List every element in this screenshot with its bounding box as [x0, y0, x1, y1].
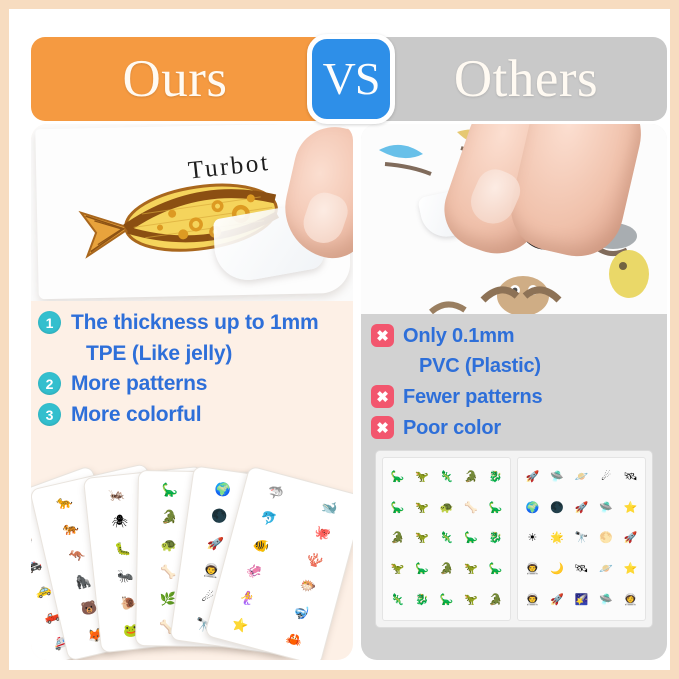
feature-row: 3 More colorful: [38, 399, 353, 430]
sticker-icon: 🛰: [570, 555, 593, 584]
comparison-card: Ours Others VS Turbot: [9, 9, 670, 670]
sticker-icon: 🛸: [595, 494, 618, 523]
ours-sticker-backing-sheet: Turbot: [35, 124, 350, 299]
feature-row: 2 More patterns: [38, 368, 353, 399]
sticker-icon: 🪐: [595, 555, 618, 584]
vs-badge-label: VS: [323, 56, 380, 102]
sticker-icon: 🛰: [619, 463, 642, 492]
feature-label: Fewer patterns: [403, 387, 542, 407]
sticker-icon: ☄: [595, 463, 618, 492]
sticker-icon: 🐊: [386, 525, 409, 554]
feature-row: ✖ Fewer patterns: [371, 381, 667, 412]
sticker-icon: ⭐: [619, 494, 642, 523]
vs-badge: VS: [307, 34, 395, 124]
sticker-icon: 🦴: [460, 494, 483, 523]
sticker-icon: 🦖: [460, 586, 483, 615]
sticker-icon: 🛸: [546, 463, 569, 492]
cross-icon-2: ✖: [371, 385, 394, 408]
ours-header-label: Ours: [122, 53, 227, 106]
sticker-icon: 🌙: [546, 555, 569, 584]
feature-row: ✖ Poor color: [371, 412, 667, 443]
sticker-icon: 🦖: [411, 463, 434, 492]
feature-row: TPE (Like jelly): [38, 338, 353, 368]
feature-row: 1 The thickness up to 1mm: [38, 307, 353, 338]
sticker-icon: 👩‍🚀: [619, 586, 642, 615]
sticker-icon: ☀: [521, 525, 544, 554]
dinosaur-sheet: 🦕🦖🦎🐊🐉🦕🦖🐢🦴🦕🐊🦖🦎🦕🐉🦖🦕🐊🦖🦕🦎🐉🦕🦖🐊: [382, 457, 511, 621]
sticker-icon: 🦕: [386, 494, 409, 523]
sticker-icon: 🦕: [435, 586, 458, 615]
sticker-icon: 🐉: [411, 586, 434, 615]
sticker-icon: 🚀: [521, 463, 544, 492]
number-badge-1: 1: [38, 311, 61, 334]
sticker-icon: 👨‍🚀: [521, 586, 544, 615]
number-badge-3: 3: [38, 403, 61, 426]
sticker-icon: 🐊: [435, 555, 458, 584]
sticker-icon: 👨‍🚀: [521, 555, 544, 584]
sticker-icon: 🌍: [521, 494, 544, 523]
feature-label: More patterns: [71, 373, 207, 394]
sticker-icon: 🌠: [570, 586, 593, 615]
ours-panel: Turbot: [31, 124, 353, 660]
sticker-icon: 🦕: [484, 555, 507, 584]
cross-icon-3: ✖: [371, 416, 394, 439]
others-header-label: Others: [454, 53, 598, 106]
sticker-icon: 🌑: [546, 494, 569, 523]
sticker-icon: 🐊: [460, 463, 483, 492]
number-badge-2: 2: [38, 372, 61, 395]
sticker-icon: 🐉: [484, 525, 507, 554]
sticker-icon: 🚀: [546, 586, 569, 615]
sticker-icon: 🐉: [484, 463, 507, 492]
sticker-icon: 🦖: [411, 525, 434, 554]
sticker-icon: 🐢: [435, 494, 458, 523]
ours-feature-list: 1 The thickness up to 1mm TPE (Like jell…: [31, 307, 353, 430]
sticker-icon: 🦎: [435, 525, 458, 554]
feature-row: ✖ Only 0.1mm: [371, 320, 667, 351]
sticker-icon: 🪐: [570, 463, 593, 492]
sticker-icon: 🦎: [386, 586, 409, 615]
sticker-icon: 🚀: [570, 494, 593, 523]
sticker-icon: 🔭: [570, 525, 593, 554]
sticker-icon: 🦕: [460, 525, 483, 554]
feature-label: Only 0.1mm: [403, 326, 514, 346]
comparison-header: Ours Others VS: [31, 37, 667, 121]
feature-label: The thickness up to 1mm: [71, 312, 318, 333]
space-sheet: 🚀🛸🪐☄🛰🌍🌑🚀🛸⭐☀🌟🔭🌕🚀👨‍🚀🌙🛰🪐⭐👨‍🚀🚀🌠🛸👩‍🚀: [517, 457, 646, 621]
feature-label: Poor color: [403, 418, 501, 438]
feature-sublabel: PVC (Plastic): [419, 356, 541, 376]
sticker-icon: 🦎: [435, 463, 458, 492]
others-sticker-sheets-gallery: 🦕🦖🦎🐊🐉🦕🦖🐢🦴🦕🐊🦖🦎🦕🐉🦖🦕🐊🦖🦕🦎🐉🦕🦖🐊 🚀🛸🪐☄🛰🌍🌑🚀🛸⭐☀🌟🔭🌕…: [375, 450, 653, 628]
feature-label: More colorful: [71, 404, 201, 425]
others-panel: ✖ Only 0.1mm PVC (Plastic) ✖ Fewer patte…: [361, 124, 667, 660]
feature-row: PVC (Plastic): [371, 351, 667, 381]
sticker-icon: 🦕: [484, 494, 507, 523]
sticker-icon: 🦖: [411, 494, 434, 523]
sticker-icon: 🦕: [386, 463, 409, 492]
others-product-photo: [361, 124, 667, 314]
others-sticker-backing-sheet: [361, 124, 667, 314]
ours-sticker-sheets-gallery: 🚒🚌🚚🚜🚓🏎🚕🚎🛻🚐🚑🚛 🐆🐘🐅🦒🦘🐑🦍🐪🐻🦌🦊🦉 🦗🐝🕷🦋🐛🐞🐜🦟🐌🦂🐸🧒 🦕…: [31, 450, 353, 655]
sticker-icon: 🌕: [595, 525, 618, 554]
outer-frame: Ours Others VS Turbot: [0, 0, 679, 679]
sticker-icon: 🦖: [386, 555, 409, 584]
sticker-icon: 🦖: [460, 555, 483, 584]
cross-icon-1: ✖: [371, 324, 394, 347]
sticker-icon: 🚀: [619, 525, 642, 554]
sticker-icon: 🛸: [595, 586, 618, 615]
sticker-icon: 🐊: [484, 586, 507, 615]
ours-header-bar: Ours: [31, 37, 353, 121]
ours-product-photo: Turbot: [31, 124, 353, 301]
others-feature-list: ✖ Only 0.1mm PVC (Plastic) ✖ Fewer patte…: [361, 320, 667, 443]
sticker-icon: 🌟: [546, 525, 569, 554]
sticker-icon: 🦕: [411, 555, 434, 584]
sticker-icon: ⭐: [619, 555, 642, 584]
feature-sublabel: TPE (Like jelly): [86, 343, 232, 364]
